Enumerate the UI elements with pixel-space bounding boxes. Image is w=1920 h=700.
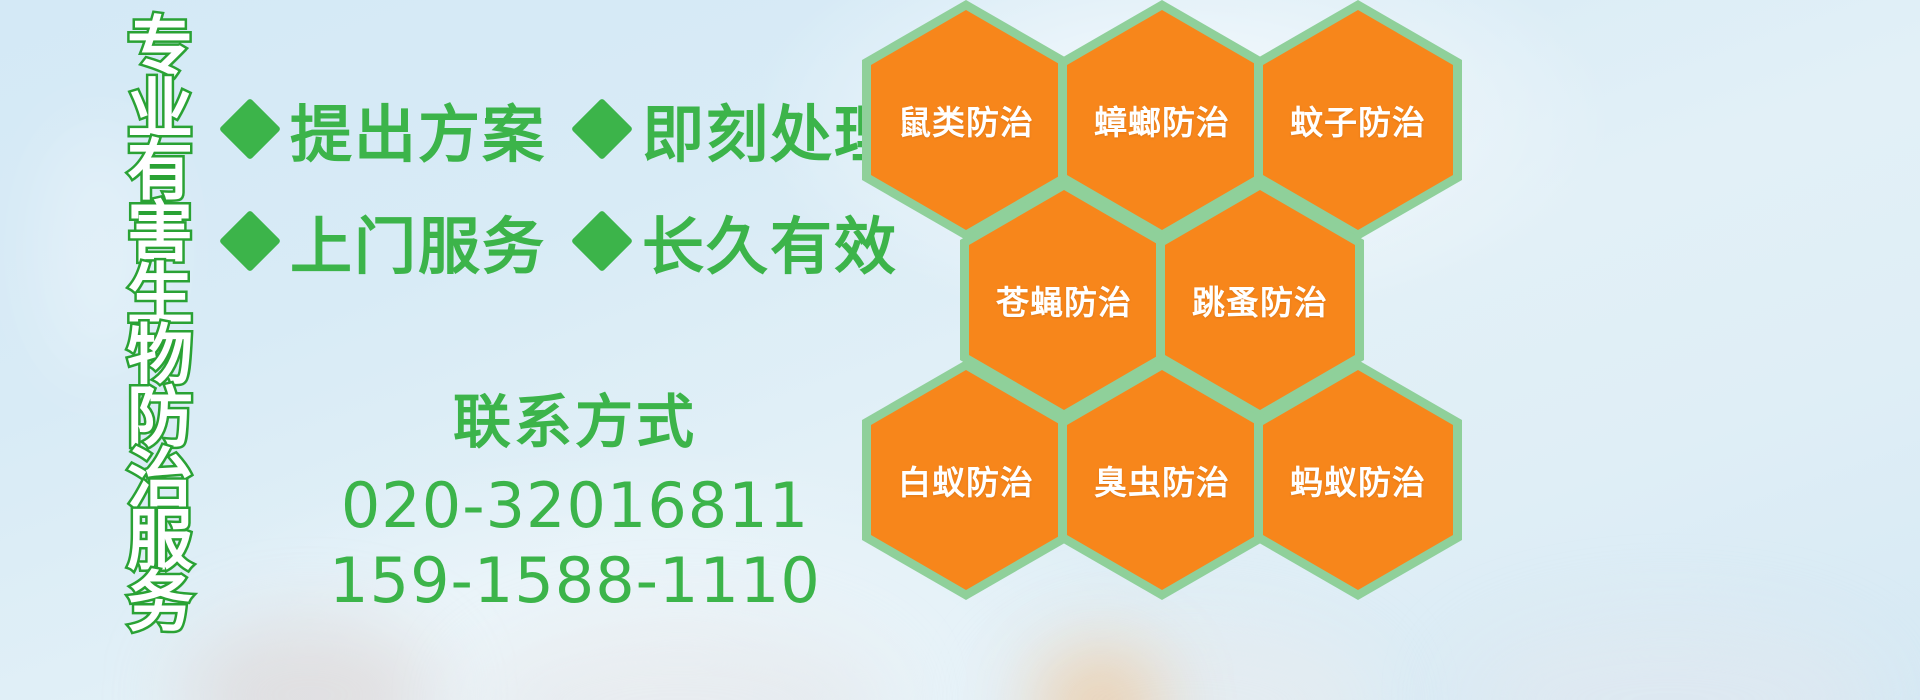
service-label: 跳蚤防治 (1192, 276, 1328, 324)
background-blur-blob (1460, 620, 1880, 700)
service-label: 蚂蚁防治 (1290, 456, 1426, 504)
contact-block: 联系方式 020-32016811 159-1588-1110 (310, 392, 840, 617)
diamond-bullet-icon (219, 210, 281, 272)
feature-immediate-handling: 即刻处理 (580, 84, 898, 174)
service-label: 蟑螂防治 (1094, 96, 1230, 144)
feature-label: 即刻处理 (642, 84, 898, 174)
service-label: 鼠类防治 (898, 96, 1034, 144)
contact-label: 联系方式 (310, 392, 840, 453)
diamond-bullet-icon (571, 98, 633, 160)
feature-propose-plan: 提出方案 (228, 84, 546, 174)
service-hex-ant[interactable]: 蚂蚁防治 (1254, 360, 1462, 600)
background-blur-blob (180, 620, 440, 700)
pest-control-banner: 专 业 有 害 生 物 防 治 服 务 提出方案 即刻处理 上门服务 长久有效 (0, 0, 1920, 700)
diamond-bullet-icon (571, 210, 633, 272)
diamond-bullet-icon (219, 98, 281, 160)
service-label: 苍蝇防治 (996, 276, 1132, 324)
feature-long-lasting: 长久有效 (580, 196, 898, 286)
background-blur-blob-orange (1040, 650, 1160, 700)
background-blur-blob (470, 625, 890, 700)
service-hex-bedbug[interactable]: 臭虫防治 (1058, 360, 1266, 600)
feature-onsite-service: 上门服务 (228, 196, 546, 286)
service-label: 蚊子防治 (1290, 96, 1426, 144)
phone-landline[interactable]: 020-32016811 (310, 469, 840, 542)
feature-label: 提出方案 (290, 84, 546, 174)
vertical-headline-char: 务 (127, 571, 193, 636)
service-label: 臭虫防治 (1094, 456, 1230, 504)
phone-mobile[interactable]: 159-1588-1110 (310, 544, 840, 617)
service-hexagon-cluster: 鼠类防治 蟑螂防治 蚊子防治 苍蝇防治 跳蚤防治 白蚁防治 (862, 0, 1462, 634)
service-label: 白蚁防治 (898, 456, 1034, 504)
feature-row-1: 提出方案 即刻处理 (228, 84, 898, 174)
vertical-headline: 专 业 有 害 生 物 防 治 服 务 (108, 16, 212, 633)
feature-row-2: 上门服务 长久有效 (228, 196, 898, 286)
feature-label: 长久有效 (642, 196, 898, 286)
service-hex-termite[interactable]: 白蚁防治 (862, 360, 1070, 600)
feature-label: 上门服务 (290, 196, 546, 286)
